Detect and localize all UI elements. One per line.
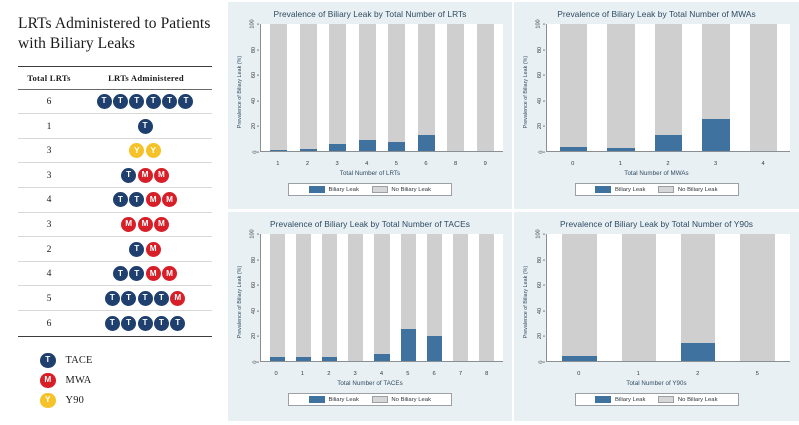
bar-segment-biliary-leak[interactable] bbox=[401, 329, 416, 361]
page-title: LRTs Administered to Patients with Bilia… bbox=[0, 0, 228, 54]
x-axis-title: Total Number of MWAs bbox=[514, 170, 799, 177]
stacked-bar[interactable] bbox=[560, 24, 587, 151]
y-axis-ticks: 020406080100 bbox=[245, 24, 259, 152]
stacked-bar[interactable] bbox=[300, 24, 317, 151]
cell-total-lrts: 3 bbox=[18, 145, 80, 156]
y-axis-label-text: Prevalence of Biliary Leak (%) bbox=[238, 265, 244, 337]
bar-segment-no-biliary-leak[interactable] bbox=[740, 234, 774, 361]
chart-panel-lrt: Prevalence of Biliary Leak by Total Numb… bbox=[228, 2, 512, 209]
y-tick-mark bbox=[543, 75, 545, 76]
legend-swatch bbox=[595, 186, 611, 194]
legend-swatch bbox=[658, 186, 674, 194]
bar-slot[interactable] bbox=[448, 234, 474, 361]
x-tick-label: 5 bbox=[728, 369, 788, 377]
legend-label: No Biliary Leak bbox=[391, 397, 431, 403]
bar-slot[interactable] bbox=[290, 234, 316, 361]
stacked-bar[interactable] bbox=[359, 24, 376, 151]
cell-lrts-administered: TMM bbox=[80, 168, 212, 183]
y-axis-label-text: Prevalence of Biliary Leak (%) bbox=[524, 265, 530, 337]
x-tick-label: 0 bbox=[549, 369, 609, 377]
bar-segment-biliary-leak[interactable] bbox=[296, 357, 311, 361]
bar-segment-no-biliary-leak[interactable] bbox=[607, 24, 634, 148]
chart-legend: Biliary LeakNo Biliary Leak bbox=[288, 393, 452, 406]
legend-item-no-biliary-leak[interactable]: No Biliary Leak bbox=[658, 396, 717, 404]
x-tick-label: 3 bbox=[342, 369, 368, 377]
stacked-bar[interactable] bbox=[296, 234, 311, 361]
table-row: 2TM bbox=[18, 237, 212, 262]
legend-label: Biliary Leak bbox=[328, 187, 358, 193]
tace-token-icon: T bbox=[97, 94, 112, 109]
mwa-token-icon: M bbox=[170, 291, 185, 306]
tace-token-icon: T bbox=[129, 266, 144, 281]
bar-segment-no-biliary-leak[interactable] bbox=[322, 234, 337, 357]
y-tick-mark bbox=[543, 100, 545, 101]
legend-label: Y90 bbox=[66, 395, 85, 406]
x-tick-label: 4 bbox=[739, 159, 787, 167]
mwa-token-icon: M bbox=[121, 217, 136, 232]
stacked-bar[interactable] bbox=[388, 24, 405, 151]
y90-token-icon: Y bbox=[146, 143, 161, 158]
table-row: 5TTTTM bbox=[18, 286, 212, 311]
table-row: 6TTTTT bbox=[18, 311, 212, 336]
bar-segment-no-biliary-leak[interactable] bbox=[348, 234, 363, 361]
chart-panel-tace: Prevalence of Biliary Leak by Total Numb… bbox=[228, 212, 512, 421]
mwa-token-icon: M bbox=[146, 266, 161, 281]
table-row: 6TTTTTT bbox=[18, 90, 212, 115]
plot-wrapper: Prevalence of Biliary Leak (%)0204060801… bbox=[235, 24, 503, 159]
x-tick-label: 2 bbox=[668, 369, 728, 377]
chart-title: Prevalence of Biliary Leak by Total Numb… bbox=[228, 2, 512, 19]
y90-token-icon: Y bbox=[40, 393, 56, 409]
x-axis: 012345678 bbox=[260, 369, 503, 379]
stacked-bar[interactable] bbox=[374, 234, 389, 361]
cell-lrts-administered: MMM bbox=[80, 217, 212, 232]
y-tick-mark bbox=[543, 126, 545, 127]
cell-total-lrts: 3 bbox=[18, 170, 80, 181]
cell-lrts-administered: TTTTTT bbox=[80, 94, 212, 109]
y-tick-mark bbox=[257, 285, 259, 286]
y90-token-icon: Y bbox=[129, 143, 144, 158]
bar-slot[interactable] bbox=[441, 24, 471, 151]
x-axis-title: Total Number of Y90s bbox=[514, 380, 799, 387]
bar-group bbox=[261, 24, 503, 151]
bar-slot[interactable] bbox=[412, 24, 442, 151]
x-tick-label: 1 bbox=[289, 369, 315, 377]
legend-item-tace: TTACE bbox=[40, 351, 228, 371]
y-axis-ticks: 020406080100 bbox=[245, 234, 259, 362]
stacked-bar[interactable] bbox=[740, 234, 774, 361]
x-tick-label: 7 bbox=[447, 369, 473, 377]
x-tick-label: 8 bbox=[474, 369, 500, 377]
y-axis-label-text: Prevalence of Biliary Leak (%) bbox=[238, 55, 244, 127]
mwa-token-icon: M bbox=[154, 168, 169, 183]
bar-slot[interactable] bbox=[264, 234, 290, 361]
tace-token-icon: T bbox=[178, 94, 193, 109]
bar-segment-no-biliary-leak[interactable] bbox=[359, 24, 376, 140]
stacked-bar[interactable] bbox=[401, 234, 416, 361]
bar-segment-no-biliary-leak[interactable] bbox=[681, 234, 715, 343]
y-tick-mark bbox=[257, 234, 259, 235]
y-axis-label: Prevalence of Biliary Leak (%) bbox=[236, 24, 245, 159]
tace-token-icon: T bbox=[105, 291, 120, 306]
cell-lrts-administered: YY bbox=[80, 143, 212, 158]
stacked-bar[interactable] bbox=[477, 24, 494, 151]
legend-label: Biliary Leak bbox=[615, 397, 645, 403]
tace-token-icon: T bbox=[121, 168, 136, 183]
bar-slot[interactable] bbox=[264, 24, 294, 151]
mwa-token-icon: M bbox=[40, 373, 56, 389]
x-tick-label: 2 bbox=[644, 159, 692, 167]
plot-wrapper: Prevalence of Biliary Leak (%)0204060801… bbox=[235, 234, 503, 369]
stacked-bar[interactable] bbox=[427, 234, 442, 361]
table-row: 1T bbox=[18, 114, 212, 139]
y-tick-mark bbox=[257, 152, 259, 153]
cell-total-lrts: 6 bbox=[18, 96, 80, 107]
x-axis-ticks: 01234 bbox=[546, 159, 790, 167]
bar-segment-no-biliary-leak[interactable] bbox=[655, 24, 682, 134]
x-axis-ticks: 12345689 bbox=[260, 159, 503, 167]
column-header-total-lrts: Total LRTs bbox=[18, 73, 80, 83]
legend-label: No Biliary Leak bbox=[678, 187, 718, 193]
x-axis-title: Total Number of LRTs bbox=[228, 170, 512, 177]
bar-slot[interactable] bbox=[323, 24, 353, 151]
bar-slot[interactable] bbox=[550, 234, 609, 361]
legend-item-no-biliary-leak[interactable]: No Biliary Leak bbox=[658, 186, 717, 194]
cell-total-lrts: 5 bbox=[18, 293, 80, 304]
legend-swatch bbox=[309, 396, 325, 404]
treatment-type-legend: TTACEMMWAYY90 bbox=[0, 351, 228, 411]
bar-slot[interactable] bbox=[294, 24, 324, 151]
tace-token-icon: T bbox=[138, 119, 153, 134]
legend-item-biliary-leak[interactable]: Biliary Leak bbox=[595, 396, 645, 404]
y-axis-ticks: 020406080100 bbox=[531, 234, 545, 362]
x-axis-title: Total Number of TACEs bbox=[228, 380, 512, 387]
bar-slot[interactable] bbox=[316, 234, 342, 361]
legend-label: No Biliary Leak bbox=[678, 397, 718, 403]
x-axis: 01234 bbox=[546, 159, 790, 169]
legend-item-y90: YY90 bbox=[40, 391, 228, 411]
bar-segment-no-biliary-leak[interactable] bbox=[750, 24, 777, 151]
cell-total-lrts: 6 bbox=[18, 318, 80, 329]
stacked-bar[interactable] bbox=[562, 234, 596, 361]
bar-slot[interactable] bbox=[597, 24, 644, 151]
y-tick-mark bbox=[543, 24, 545, 25]
stacked-bar[interactable] bbox=[681, 234, 715, 361]
mwa-token-icon: M bbox=[138, 168, 153, 183]
stacked-bar[interactable] bbox=[270, 24, 287, 151]
y-tick-label: 100 bbox=[534, 231, 543, 237]
stacked-bar[interactable] bbox=[270, 234, 285, 361]
mwa-token-icon: M bbox=[162, 266, 177, 281]
bar-segment-biliary-leak[interactable] bbox=[300, 149, 317, 151]
bar-segment-biliary-leak[interactable] bbox=[702, 119, 729, 151]
legend-label: MWA bbox=[66, 375, 92, 386]
bar-segment-no-biliary-leak[interactable] bbox=[477, 24, 494, 151]
plot-area bbox=[546, 234, 790, 362]
x-tick-label: 6 bbox=[421, 369, 447, 377]
bar-segment-no-biliary-leak[interactable] bbox=[300, 24, 317, 149]
x-tick-label: 1 bbox=[597, 159, 645, 167]
bar-segment-no-biliary-leak[interactable] bbox=[270, 24, 287, 150]
bar-slot[interactable] bbox=[421, 234, 447, 361]
bar-segment-biliary-leak[interactable] bbox=[418, 135, 435, 152]
x-tick-label: 4 bbox=[368, 369, 394, 377]
table-row: 3MMM bbox=[18, 213, 212, 238]
tace-token-icon: T bbox=[113, 94, 128, 109]
tace-token-icon: T bbox=[154, 291, 169, 306]
x-tick-label: 1 bbox=[263, 159, 293, 167]
cell-lrts-administered: TTMM bbox=[80, 266, 212, 281]
cell-lrts-administered: TTMM bbox=[80, 192, 212, 207]
bar-segment-no-biliary-leak[interactable] bbox=[418, 24, 435, 134]
bar-slot[interactable] bbox=[740, 24, 787, 151]
figure-root: LRTs Administered to Patients with Bilia… bbox=[0, 0, 799, 425]
stacked-bar[interactable] bbox=[750, 24, 777, 151]
y-axis-label: Prevalence of Biliary Leak (%) bbox=[522, 234, 531, 369]
tace-token-icon: T bbox=[138, 316, 153, 331]
legend-item-biliary-leak[interactable]: Biliary Leak bbox=[309, 396, 359, 404]
y-tick-mark bbox=[543, 310, 545, 311]
x-axis: 12345689 bbox=[260, 159, 503, 169]
stacked-bar[interactable] bbox=[348, 234, 363, 361]
bar-segment-biliary-leak[interactable] bbox=[388, 142, 405, 151]
cell-total-lrts: 4 bbox=[18, 268, 80, 279]
bar-slot[interactable] bbox=[692, 24, 739, 151]
x-tick-label: 9 bbox=[470, 159, 500, 167]
bar-segment-biliary-leak[interactable] bbox=[560, 147, 587, 151]
plot-wrapper: Prevalence of Biliary Leak (%)0204060801… bbox=[521, 234, 790, 369]
tace-token-icon: T bbox=[121, 291, 136, 306]
chart-panel-y90: Prevalence of Biliary Leak by Total Numb… bbox=[514, 212, 799, 421]
bar-segment-biliary-leak[interactable] bbox=[655, 135, 682, 152]
table-row: 3TMM bbox=[18, 163, 212, 188]
y-tick-mark bbox=[543, 336, 545, 337]
bar-segment-biliary-leak[interactable] bbox=[322, 357, 337, 361]
table-body: 6TTTTTT1T3YY3TMM4TTMM3MMM2TM4TTMM5TTTTM6… bbox=[18, 90, 212, 336]
tace-token-icon: T bbox=[113, 192, 128, 207]
bar-segment-no-biliary-leak[interactable] bbox=[329, 24, 346, 144]
plot-area bbox=[260, 24, 503, 152]
legend-swatch bbox=[595, 396, 611, 404]
bar-segment-biliary-leak[interactable] bbox=[562, 356, 596, 361]
table-row: 3YY bbox=[18, 139, 212, 164]
x-tick-label: 5 bbox=[382, 159, 412, 167]
tace-token-icon: T bbox=[129, 192, 144, 207]
y-tick-mark bbox=[257, 259, 259, 260]
legend-item-biliary-leak[interactable]: Biliary Leak bbox=[309, 186, 359, 194]
x-tick-label: 1 bbox=[609, 369, 669, 377]
bar-group bbox=[547, 234, 790, 361]
bar-segment-biliary-leak[interactable] bbox=[607, 148, 634, 151]
chart-title: Prevalence of Biliary Leak by Total Numb… bbox=[228, 212, 512, 229]
bar-group bbox=[547, 24, 790, 151]
tace-token-icon: T bbox=[40, 353, 56, 369]
cell-lrts-administered: TTTTM bbox=[80, 291, 212, 306]
bar-group bbox=[261, 234, 503, 361]
y-tick-mark bbox=[257, 126, 259, 127]
bar-slot[interactable] bbox=[353, 24, 383, 151]
lrt-table-panel: LRTs Administered to Patients with Bilia… bbox=[0, 0, 228, 425]
stacked-bar[interactable] bbox=[479, 234, 494, 361]
table-row: 4TTMM bbox=[18, 262, 212, 287]
mwa-token-icon: M bbox=[138, 217, 153, 232]
tace-token-icon: T bbox=[121, 316, 136, 331]
column-header-lrts-administered: LRTs Administered bbox=[80, 73, 212, 83]
chart-legend: Biliary LeakNo Biliary Leak bbox=[288, 183, 452, 196]
bar-segment-biliary-leak[interactable] bbox=[270, 357, 285, 361]
bar-segment-biliary-leak[interactable] bbox=[359, 140, 376, 151]
y-tick-label: 100 bbox=[248, 231, 257, 237]
chart-legend: Biliary LeakNo Biliary Leak bbox=[575, 183, 739, 196]
x-tick-label: 6 bbox=[411, 159, 441, 167]
y-tick-mark bbox=[543, 362, 545, 363]
legend-swatch bbox=[372, 186, 388, 194]
bar-segment-no-biliary-leak[interactable] bbox=[562, 234, 596, 356]
x-axis-ticks: 012345678 bbox=[260, 369, 503, 377]
y-tick-mark bbox=[257, 362, 259, 363]
x-tick-label: 2 bbox=[293, 159, 323, 167]
legend-swatch bbox=[309, 186, 325, 194]
bar-segment-no-biliary-leak[interactable] bbox=[560, 24, 587, 147]
x-tick-label: 8 bbox=[441, 159, 471, 167]
y-tick-mark bbox=[257, 310, 259, 311]
bar-slot[interactable] bbox=[471, 24, 501, 151]
y-tick-mark bbox=[543, 152, 545, 153]
bar-segment-no-biliary-leak[interactable] bbox=[453, 234, 468, 361]
stacked-bar[interactable] bbox=[322, 234, 337, 361]
bar-segment-biliary-leak[interactable] bbox=[681, 343, 715, 361]
y-axis-label: Prevalence of Biliary Leak (%) bbox=[236, 234, 245, 369]
cell-total-lrts: 2 bbox=[18, 244, 80, 255]
tace-token-icon: T bbox=[113, 266, 128, 281]
bar-slot[interactable] bbox=[369, 234, 395, 361]
table-header-row: Total LRTs LRTs Administered bbox=[18, 67, 212, 90]
cell-total-lrts: 4 bbox=[18, 194, 80, 205]
mwa-token-icon: M bbox=[146, 242, 161, 257]
y-tick-mark bbox=[257, 336, 259, 337]
bar-slot[interactable] bbox=[474, 234, 500, 361]
mwa-token-icon: M bbox=[162, 192, 177, 207]
x-tick-label: 4 bbox=[352, 159, 382, 167]
y-tick-label: 100 bbox=[534, 21, 543, 27]
legend-item-no-biliary-leak[interactable]: No Biliary Leak bbox=[372, 396, 431, 404]
bar-slot[interactable] bbox=[343, 234, 369, 361]
legend-item-biliary-leak[interactable]: Biliary Leak bbox=[595, 186, 645, 194]
tace-token-icon: T bbox=[129, 242, 144, 257]
bar-slot[interactable] bbox=[645, 24, 692, 151]
chart-panel-mwa: Prevalence of Biliary Leak by Total Numb… bbox=[514, 2, 799, 209]
bar-slot[interactable] bbox=[669, 234, 728, 361]
bar-slot[interactable] bbox=[395, 234, 421, 361]
plot-area bbox=[260, 234, 503, 362]
y-axis-label-text: Prevalence of Biliary Leak (%) bbox=[524, 55, 530, 127]
bar-segment-biliary-leak[interactable] bbox=[427, 336, 442, 361]
legend-swatch bbox=[658, 396, 674, 404]
y-tick-mark bbox=[543, 285, 545, 286]
x-tick-label: 2 bbox=[316, 369, 342, 377]
legend-item-mwa: MMWA bbox=[40, 371, 228, 391]
x-tick-label: 0 bbox=[549, 159, 597, 167]
legend-label: TACE bbox=[66, 355, 93, 366]
stacked-bar[interactable] bbox=[453, 234, 468, 361]
bar-segment-no-biliary-leak[interactable] bbox=[388, 24, 405, 142]
bar-segment-no-biliary-leak[interactable] bbox=[447, 24, 464, 151]
bar-segment-no-biliary-leak[interactable] bbox=[296, 234, 311, 357]
tace-token-icon: T bbox=[154, 316, 169, 331]
chart-legend: Biliary LeakNo Biliary Leak bbox=[575, 393, 739, 406]
x-tick-label: 3 bbox=[322, 159, 352, 167]
bar-segment-biliary-leak[interactable] bbox=[270, 150, 287, 151]
x-tick-label: 5 bbox=[395, 369, 421, 377]
plot-area bbox=[546, 24, 790, 152]
x-axis-ticks: 0125 bbox=[546, 369, 790, 377]
cell-lrts-administered: T bbox=[80, 119, 212, 134]
y-tick-mark bbox=[257, 75, 259, 76]
x-tick-label: 3 bbox=[692, 159, 740, 167]
bar-slot[interactable] bbox=[728, 234, 787, 361]
bar-segment-biliary-leak[interactable] bbox=[374, 354, 389, 361]
chart-title: Prevalence of Biliary Leak by Total Numb… bbox=[514, 212, 799, 229]
y-tick-label: 100 bbox=[248, 21, 257, 27]
stacked-bar[interactable] bbox=[418, 24, 435, 151]
y-axis-ticks: 020406080100 bbox=[531, 24, 545, 152]
tace-token-icon: T bbox=[129, 94, 144, 109]
legend-label: Biliary Leak bbox=[328, 397, 358, 403]
bar-segment-no-biliary-leak[interactable] bbox=[270, 234, 285, 357]
y-axis-label: Prevalence of Biliary Leak (%) bbox=[522, 24, 531, 159]
tace-token-icon: T bbox=[105, 316, 120, 331]
bar-segment-no-biliary-leak[interactable] bbox=[427, 234, 442, 336]
tace-token-icon: T bbox=[170, 316, 185, 331]
bar-slot[interactable] bbox=[609, 234, 668, 361]
tace-token-icon: T bbox=[146, 94, 161, 109]
y-tick-mark bbox=[543, 259, 545, 260]
y-tick-mark bbox=[257, 49, 259, 50]
tace-token-icon: T bbox=[162, 94, 177, 109]
stacked-bar[interactable] bbox=[447, 24, 464, 151]
cell-total-lrts: 1 bbox=[18, 121, 80, 132]
legend-swatch bbox=[372, 396, 388, 404]
y-tick-mark bbox=[543, 234, 545, 235]
bar-slot[interactable] bbox=[382, 24, 412, 151]
cell-lrts-administered: TTTTT bbox=[80, 316, 212, 331]
bar-segment-no-biliary-leak[interactable] bbox=[702, 24, 729, 119]
stacked-bar[interactable] bbox=[607, 24, 634, 151]
legend-label: No Biliary Leak bbox=[391, 187, 431, 193]
x-tick-label: 0 bbox=[263, 369, 289, 377]
legend-item-no-biliary-leak[interactable]: No Biliary Leak bbox=[372, 186, 431, 194]
y-tick-mark bbox=[543, 49, 545, 50]
y-tick-mark bbox=[257, 100, 259, 101]
stacked-bar[interactable] bbox=[329, 24, 346, 151]
x-axis: 0125 bbox=[546, 369, 790, 379]
lrt-table: Total LRTs LRTs Administered 6TTTTTT1T3Y… bbox=[18, 66, 212, 337]
bar-segment-biliary-leak[interactable] bbox=[329, 144, 346, 151]
y-tick-mark bbox=[257, 24, 259, 25]
bar-slot[interactable] bbox=[550, 24, 597, 151]
bar-segment-no-biliary-leak[interactable] bbox=[622, 234, 656, 361]
stacked-bar[interactable] bbox=[622, 234, 656, 361]
bar-segment-no-biliary-leak[interactable] bbox=[479, 234, 494, 361]
cell-lrts-administered: TM bbox=[80, 242, 212, 257]
plot-wrapper: Prevalence of Biliary Leak (%)0204060801… bbox=[521, 24, 790, 159]
legend-label: Biliary Leak bbox=[615, 187, 645, 193]
stacked-bar[interactable] bbox=[655, 24, 682, 151]
bar-segment-no-biliary-leak[interactable] bbox=[374, 234, 389, 354]
stacked-bar[interactable] bbox=[702, 24, 729, 151]
table-row: 4TTMM bbox=[18, 188, 212, 213]
bar-segment-no-biliary-leak[interactable] bbox=[401, 234, 416, 329]
